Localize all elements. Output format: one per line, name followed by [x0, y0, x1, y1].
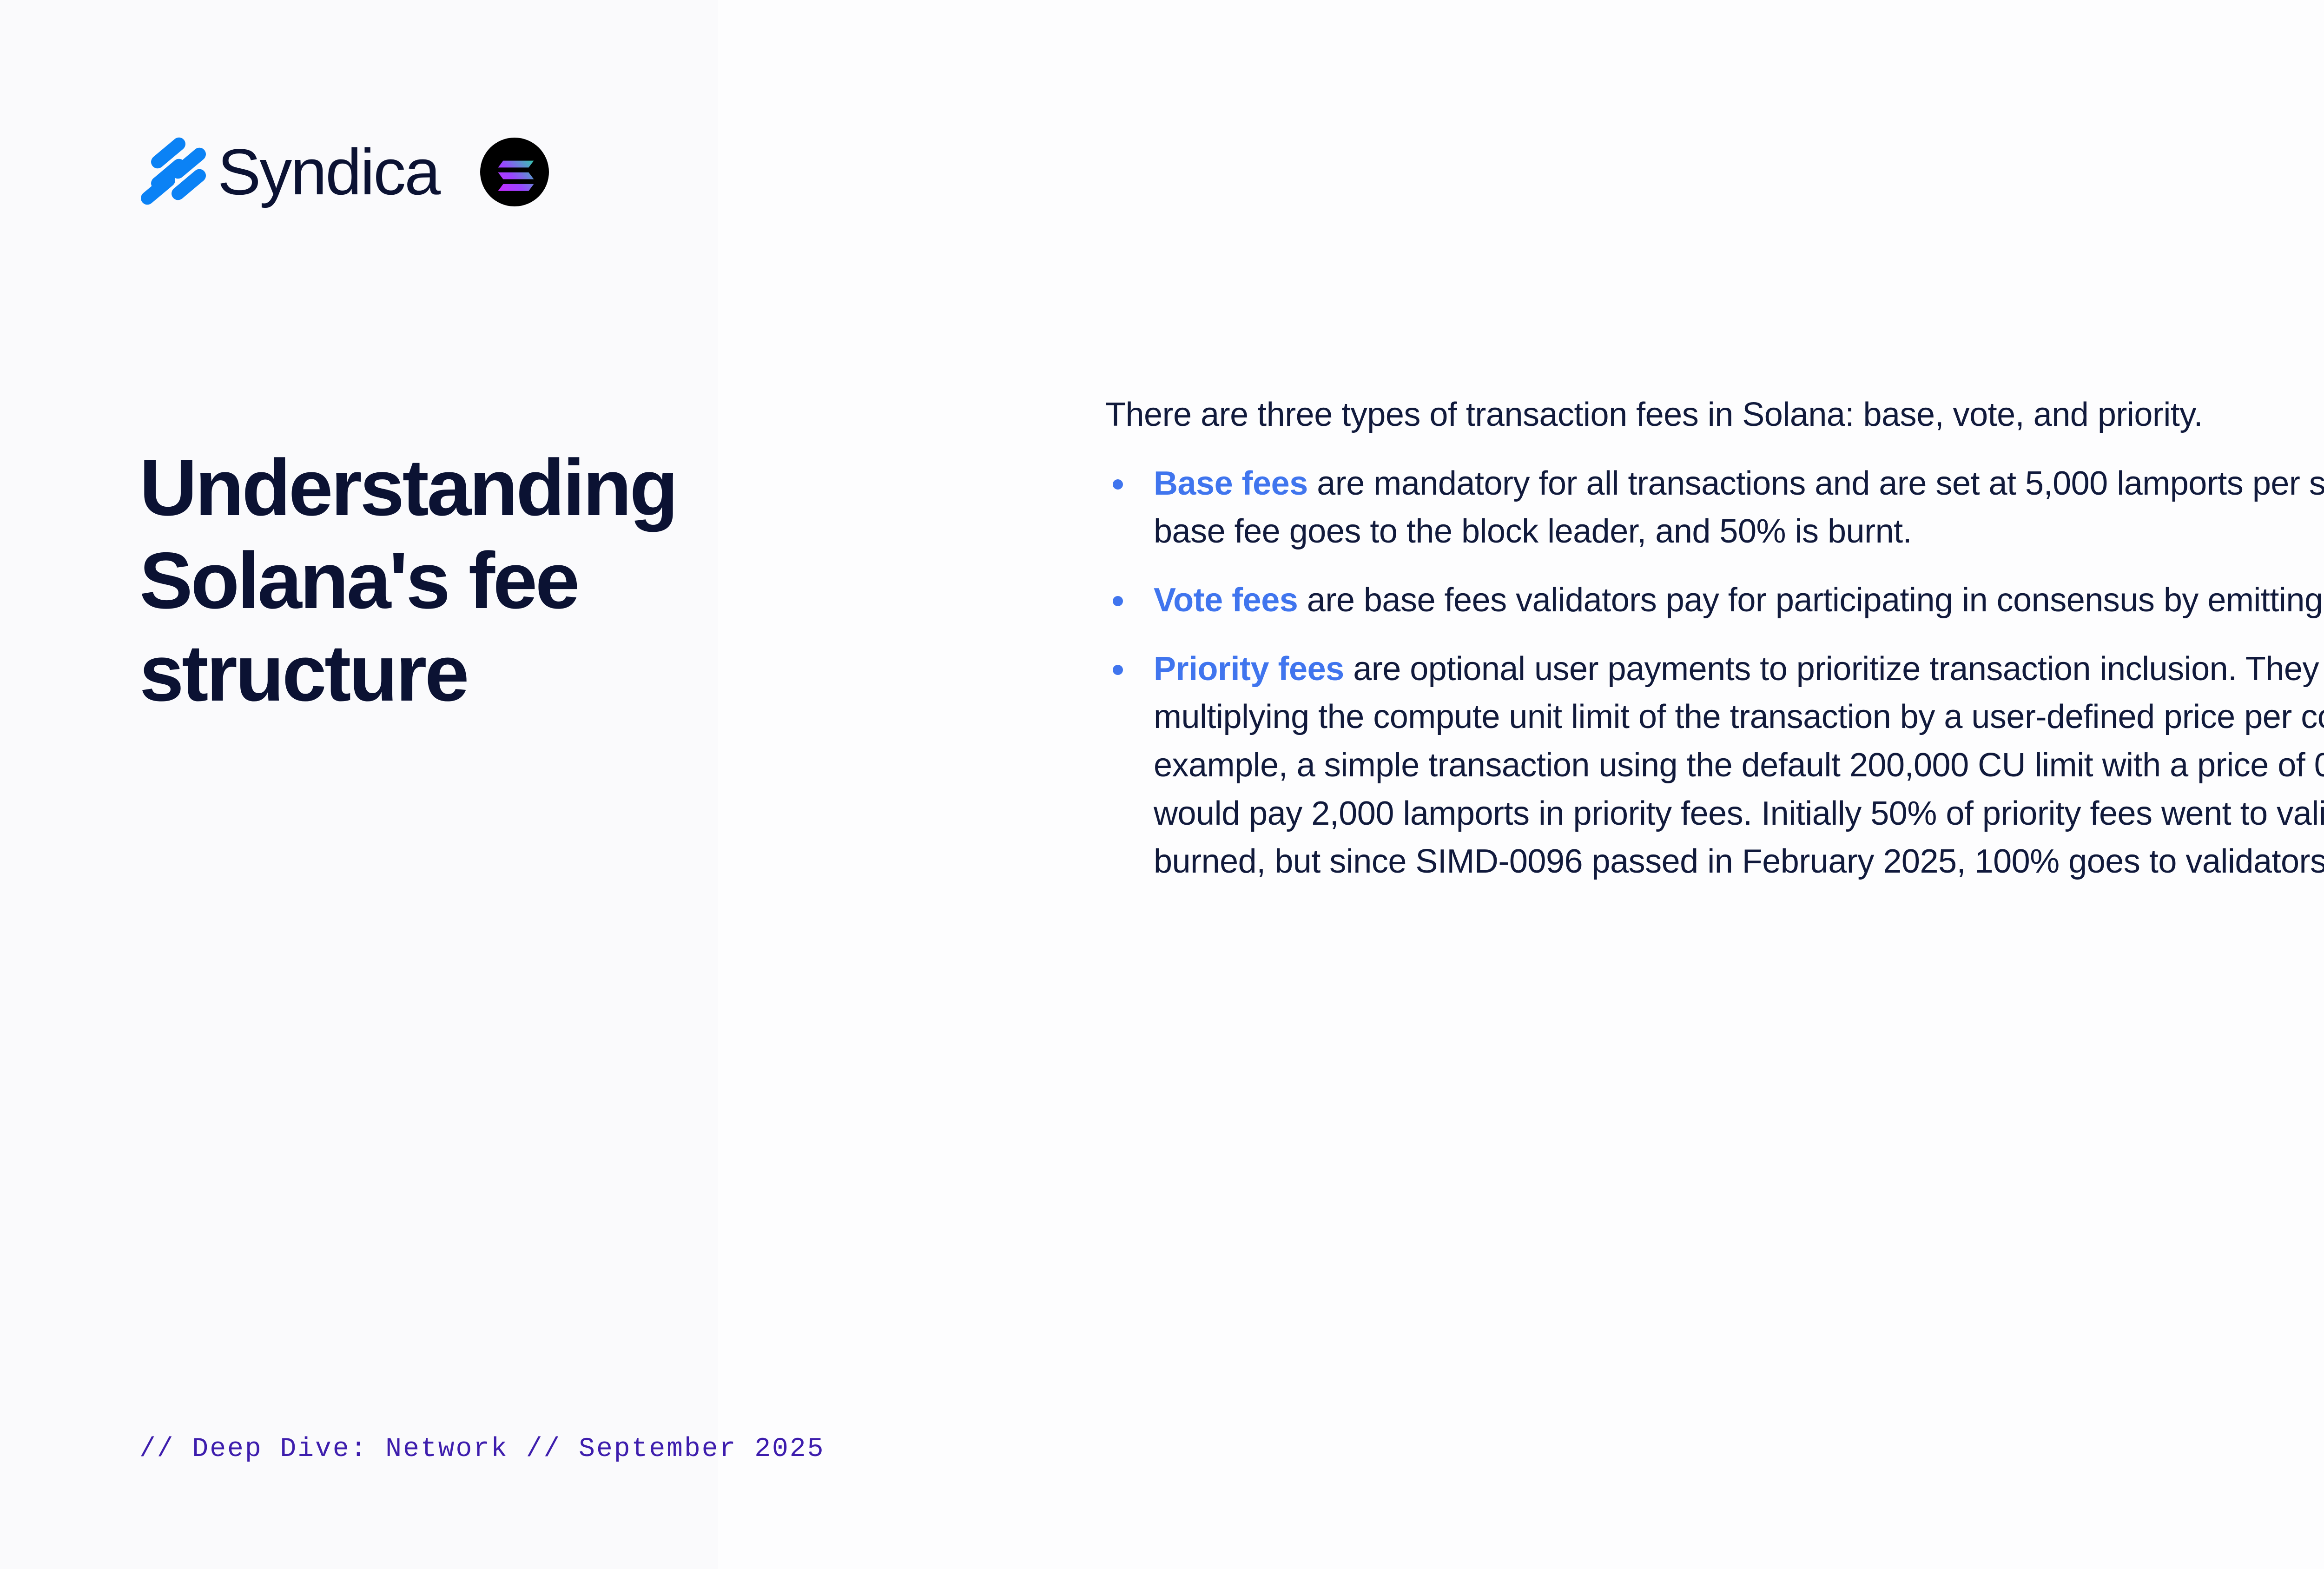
- footer-meta: // Deep Dive: Network // September 2025: [139, 1434, 825, 1464]
- solana-logo-icon: [480, 138, 549, 206]
- bullet-dot-icon: [1113, 479, 1123, 490]
- content-column: There are three types of transaction fee…: [1105, 393, 2324, 886]
- fee-description: are mandatory for all transactions and a…: [1154, 465, 2324, 550]
- list-item: Priority fees are optional user payments…: [1105, 645, 2324, 886]
- fee-term-label: Base fees: [1154, 465, 1308, 502]
- brand-header: Syndica: [139, 137, 549, 207]
- list-item: Vote fees are base fees validators pay f…: [1105, 576, 2324, 625]
- brand-wordmark: Syndica: [218, 139, 439, 205]
- fee-type-list: Base fees are mandatory for all transact…: [1105, 460, 2324, 886]
- fee-description: are base fees validators pay for partici…: [1298, 582, 2324, 619]
- syndica-logo-icon: [139, 137, 214, 207]
- bullet-dot-icon: [1113, 596, 1123, 606]
- bullet-dot-icon: [1113, 665, 1123, 675]
- lead-paragraph: There are three types of transaction fee…: [1105, 393, 2324, 437]
- page-title: Understanding Solana's fee structure: [139, 442, 651, 720]
- list-item: Base fees are mandatory for all transact…: [1105, 460, 2324, 556]
- left-panel-background: [0, 0, 718, 1569]
- slide: Syndica Understanding Solana's fee struc…: [0, 0, 2324, 1569]
- fee-term-label: Priority fees: [1154, 650, 1344, 688]
- fee-term-label: Vote fees: [1154, 582, 1298, 619]
